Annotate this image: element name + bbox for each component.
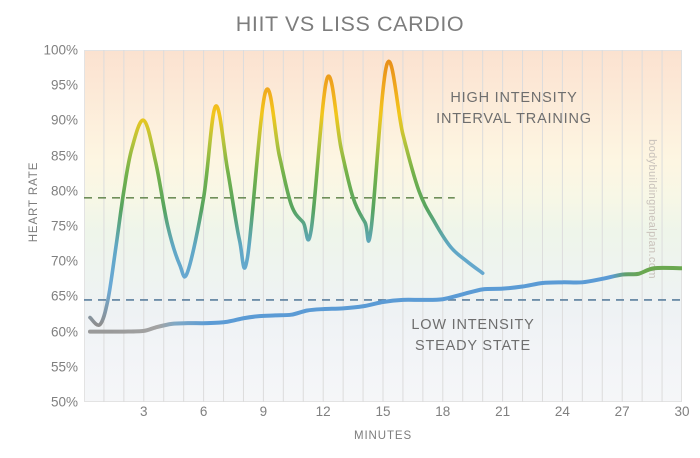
x-axis-tick-label: 3 bbox=[116, 404, 172, 419]
x-axis-tick-label: 15 bbox=[355, 404, 411, 419]
annotation-liss-line1: LOW INTENSITY bbox=[368, 315, 578, 336]
x-axis-tick-label: 27 bbox=[594, 404, 650, 419]
annotation-low-intensity: LOW INTENSITY STEADY STATE bbox=[368, 315, 578, 357]
x-axis-tick-label: 30 bbox=[654, 404, 700, 419]
annotation-liss-line2: STEADY STATE bbox=[368, 336, 578, 357]
chart-root: HIIT VS LISS CARDIO HEART RATE MINUTES 5… bbox=[0, 0, 700, 458]
x-axis-tick-label: 18 bbox=[415, 404, 471, 419]
x-axis-tick-label: 12 bbox=[295, 404, 351, 419]
x-axis-tick-label: 21 bbox=[475, 404, 531, 419]
annotation-hiit-line2: INTERVAL TRAINING bbox=[404, 109, 624, 130]
x-axis-tick-label: 24 bbox=[534, 404, 590, 419]
x-axis-tick-label: 9 bbox=[235, 404, 291, 419]
annotation-high-intensity: HIGH INTENSITY INTERVAL TRAINING bbox=[404, 88, 624, 130]
x-axis-tick-label: 6 bbox=[176, 404, 232, 419]
annotation-hiit-line1: HIGH INTENSITY bbox=[404, 88, 624, 109]
